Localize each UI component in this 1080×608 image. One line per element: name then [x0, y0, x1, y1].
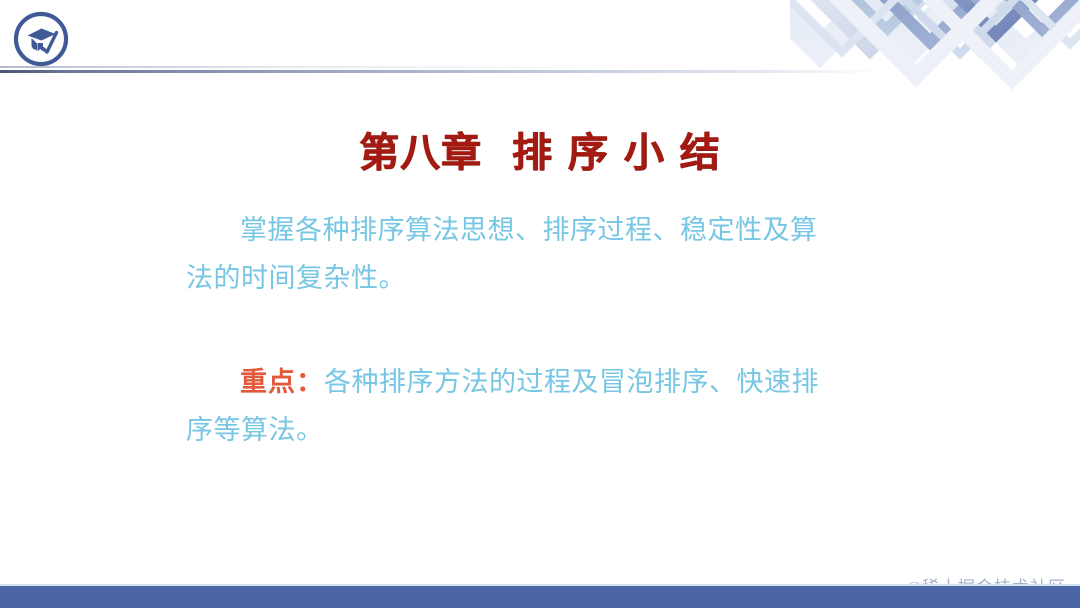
paragraph-objective: 掌握各种排序算法思想、排序过程、稳定性及算法的时间复杂性。 [186, 206, 826, 302]
body-text-block: 掌握各种排序算法思想、排序过程、稳定性及算法的时间复杂性。 重点：各种排序方法的… [186, 206, 826, 454]
page-title: 第八章 排 序 小 结 [0, 127, 1080, 179]
paragraph-objective-text: 掌握各种排序算法思想、排序过程、稳定性及算法的时间复杂性。 [186, 215, 818, 293]
paragraph-key-points: 重点：各种排序方法的过程及冒泡排序、快速排序等算法。 [186, 358, 826, 454]
key-points-label: 重点： [240, 367, 324, 397]
presentation-slide: 第八章 排 序 小 结 掌握各种排序算法思想、排序过程、稳定性及算法的时间复杂性… [0, 0, 1080, 608]
slide-content: 第八章 排 序 小 结 掌握各种排序算法思想、排序过程、稳定性及算法的时间复杂性… [0, 0, 1080, 608]
bottom-bar [0, 586, 1080, 608]
